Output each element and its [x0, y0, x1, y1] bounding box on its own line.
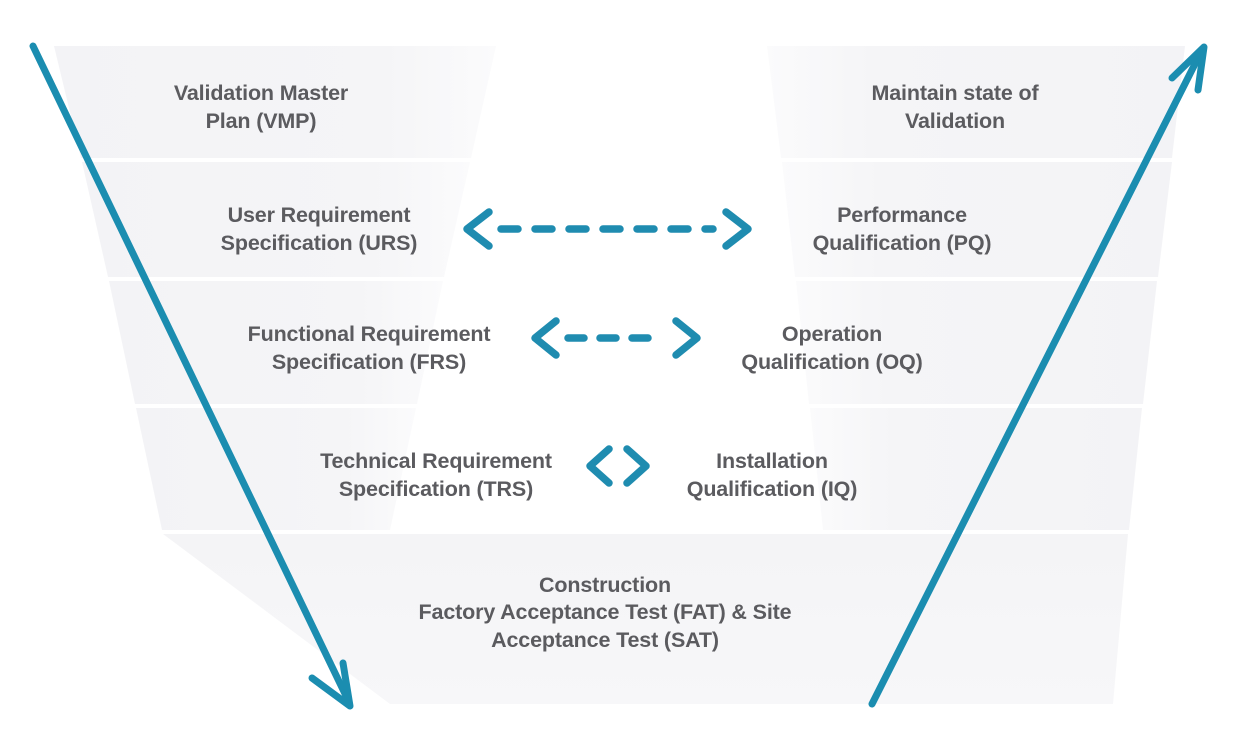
row-1-bands: [54, 46, 1185, 158]
v-model-diagram: Validation Master Plan (VMP) Maintain st…: [0, 0, 1253, 746]
band-urs: [82, 162, 470, 277]
band-oq: [796, 281, 1157, 404]
band-frs: [109, 281, 443, 404]
band-trs: [136, 408, 416, 530]
connector-urs-pq: [467, 212, 748, 246]
band-vmp: [54, 46, 496, 158]
row-3-bands: [109, 281, 1157, 404]
band-maintain-state: [767, 46, 1185, 158]
row-2-bands: [82, 162, 1172, 277]
v-model-canvas: [0, 0, 1253, 746]
connector-trs-iq: [590, 449, 646, 483]
band-iq: [810, 408, 1142, 530]
connector-frs-oq: [535, 321, 697, 355]
